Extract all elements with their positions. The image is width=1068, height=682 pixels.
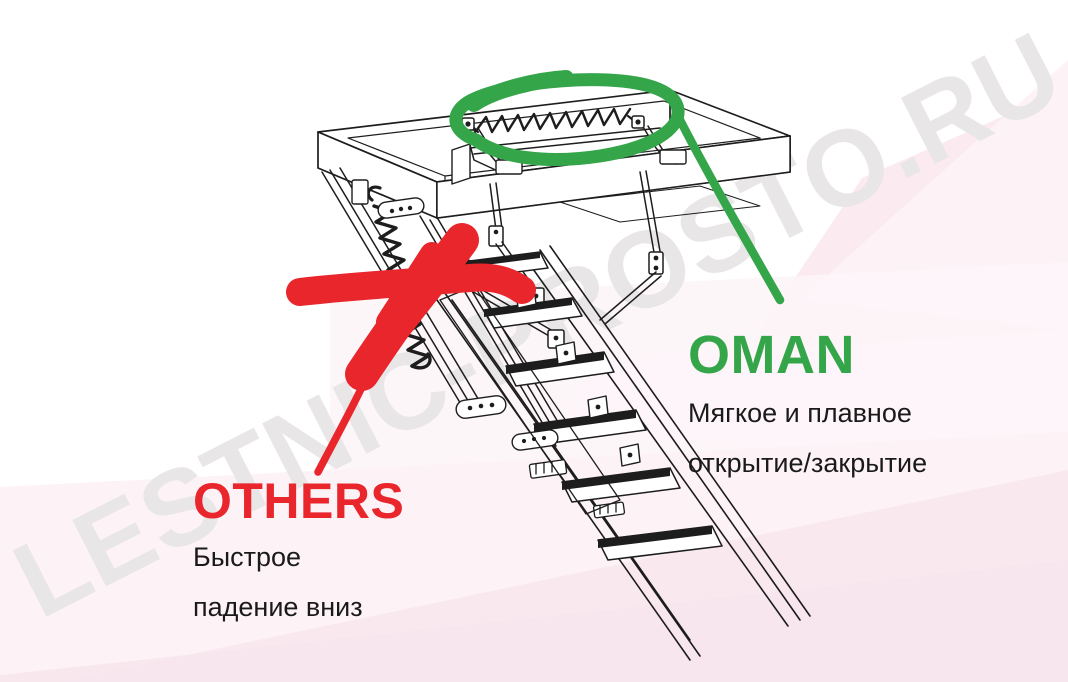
oman-description-line2: открытие/закрытие [688,445,927,482]
oman-description-line1: Мягкое и плавное [688,395,927,432]
oman-brand-heading: OMAN [688,328,927,382]
others-description-line1: Быстрое [193,539,404,576]
oman-label-block: OMAN Мягкое и плавное открытие/закрытие [688,328,927,483]
others-label-block: OTHERS Быстрое падение вниз [193,476,404,627]
others-brand-heading: OTHERS [193,476,404,526]
illustration-canvas: LESTNIC-PROSTO.RU [0,0,1068,682]
others-description-line2: падение вниз [193,589,404,626]
label-layer: OMAN Мягкое и плавное открытие/закрытие … [0,0,1068,682]
